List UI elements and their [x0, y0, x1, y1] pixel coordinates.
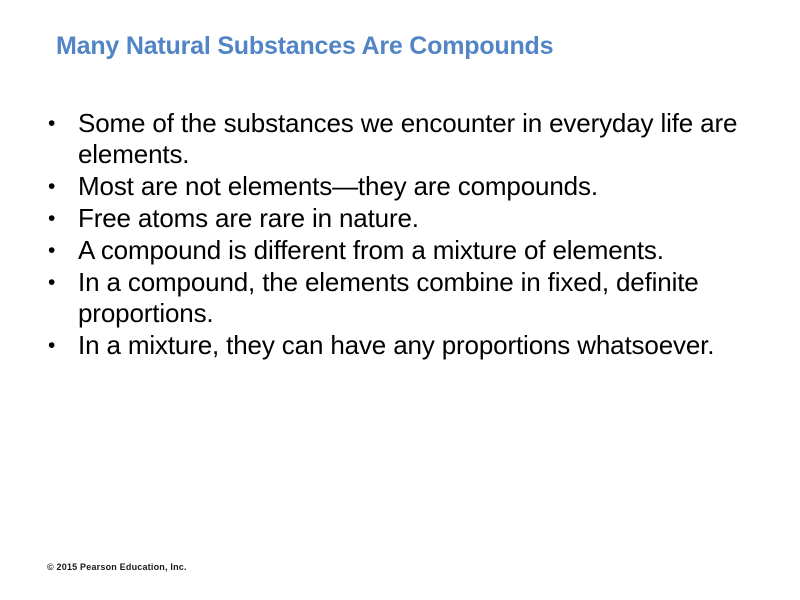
copyright-notice: © 2015 Pearson Education, Inc.: [47, 562, 187, 572]
bullet-icon: •: [48, 235, 68, 266]
list-item-text: A compound is different from a mixture o…: [78, 235, 774, 266]
slide-canvas: Many Natural Substances Are Compounds • …: [0, 0, 800, 600]
list-item: • Most are not elements—they are compoun…: [44, 171, 774, 202]
list-item-text: Free atoms are rare in nature.: [78, 203, 774, 234]
bullet-icon: •: [48, 330, 68, 361]
list-item-text: Most are not elements—they are compounds…: [78, 171, 774, 202]
list-item: • A compound is different from a mixture…: [44, 235, 774, 266]
list-item: • Free atoms are rare in nature.: [44, 203, 774, 234]
bullet-list: • Some of the substances we encounter in…: [44, 108, 774, 362]
bullet-icon: •: [48, 108, 68, 139]
list-item: • In a mixture, they can have any propor…: [44, 330, 774, 361]
list-item-text: In a compound, the elements combine in f…: [78, 267, 774, 329]
list-item-text: In a mixture, they can have any proporti…: [78, 330, 774, 361]
bullet-icon: •: [48, 203, 68, 234]
bullet-icon: •: [48, 171, 68, 202]
list-item: • Some of the substances we encounter in…: [44, 108, 774, 170]
list-item: • In a compound, the elements combine in…: [44, 267, 774, 329]
list-item-text: Some of the substances we encounter in e…: [78, 108, 774, 170]
bullet-icon: •: [48, 267, 68, 298]
page-title: Many Natural Substances Are Compounds: [56, 31, 756, 61]
